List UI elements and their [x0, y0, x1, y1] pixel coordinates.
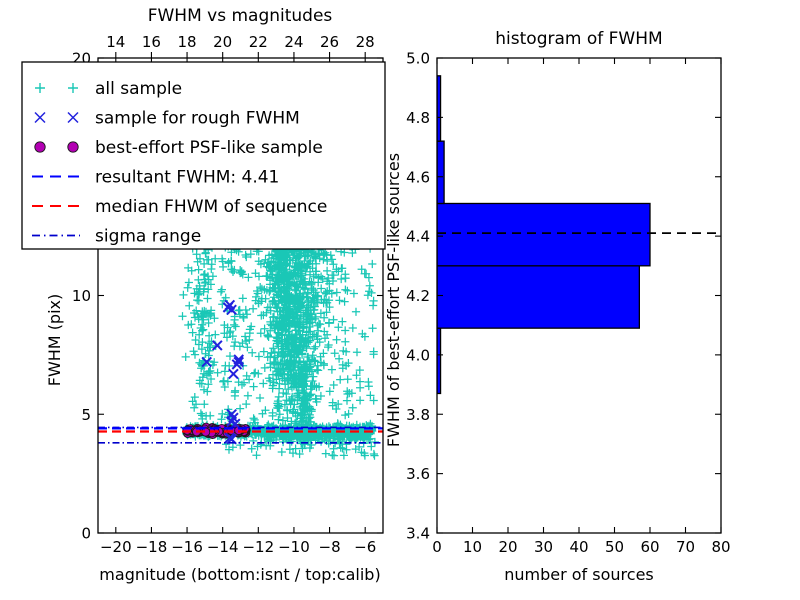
left-ylabel: FWHM (pix) — [45, 294, 64, 387]
left-y-tick-label: 0 — [81, 525, 91, 543]
left-x-top-tick-label: 20 — [213, 33, 232, 51]
histogram-bar — [437, 203, 650, 265]
right-x-tick-label: 70 — [676, 538, 695, 556]
left-x-tick-label: −10 — [278, 538, 310, 556]
right-y-tick-label: 4.4 — [406, 228, 430, 246]
legend-label: median FHWM of sequence — [95, 197, 327, 217]
left-x-tick-label: −16 — [171, 538, 203, 556]
right-y-tick-label: 4.0 — [406, 346, 430, 364]
right-y-tick-label: 5.0 — [406, 50, 430, 68]
legend-label: all sample — [95, 79, 182, 99]
left-x-top-tick-label: 22 — [249, 33, 268, 51]
right-y-tick-label: 3.4 — [406, 525, 430, 543]
legend-circle-icon — [35, 142, 45, 152]
left-x-top-tick-label: 14 — [106, 33, 125, 51]
right-x-tick-label: 30 — [534, 538, 553, 556]
legend-label: resultant FWHM: 4.41 — [95, 168, 279, 188]
right-y-tick-label: 3.8 — [406, 406, 430, 424]
right-panel-title: histogram of FWHM — [495, 29, 662, 49]
left-x-tick-label: −12 — [242, 538, 274, 556]
right-panel: histogram of FWHM 01020304050607080 3.43… — [384, 29, 731, 584]
right-y-tick-label: 4.6 — [406, 168, 430, 186]
left-x-top-tick-label: 24 — [284, 33, 303, 51]
left-x-top-tick-label: 18 — [178, 33, 197, 51]
right-ylabel: FWHM of best-effort PSF-like sources — [384, 153, 403, 447]
left-x-tick-label: −18 — [136, 538, 168, 556]
left-x-tick-label: −20 — [100, 538, 132, 556]
right-xlabel: number of sources — [504, 565, 654, 584]
right-y-tick-label: 4.8 — [406, 109, 430, 127]
right-x-tick-label: 80 — [711, 538, 730, 556]
left-panel-title: FWHM vs magnitudes — [148, 6, 333, 26]
histogram-bar — [437, 141, 444, 203]
left-xlabel: magnitude (bottom:isnt / top:calib) — [99, 565, 380, 584]
right-x-tick-label: 20 — [498, 538, 517, 556]
right-x-tick-label: 60 — [640, 538, 659, 556]
left-x-tick-label: −14 — [207, 538, 239, 556]
left-x-top-tick-label: 28 — [356, 33, 375, 51]
left-x-top-axis: 1416182022242628 — [106, 33, 374, 58]
left-x-top-tick-label: 16 — [142, 33, 161, 51]
right-x-tick-label: 40 — [569, 538, 588, 556]
right-y-tick-label: 3.6 — [406, 465, 430, 483]
left-x-tick-label: −8 — [319, 538, 341, 556]
histogram-bar — [437, 266, 639, 328]
figure-canvas: FWHM vs magnitudes −20−18−16−14−12−10−8−… — [0, 0, 800, 600]
legend-label: sigma range — [95, 227, 201, 247]
right-y-tick-label: 4.2 — [406, 287, 430, 305]
right-x-tick-label: 50 — [605, 538, 624, 556]
legend-label: best-effort PSF-like sample — [95, 138, 323, 158]
left-y-tick-label: 5 — [81, 406, 91, 424]
legend-circle-icon — [68, 142, 78, 152]
legend-box: all samplesample for rough FWHMbest-effo… — [22, 62, 385, 249]
right-x-tick-label: 0 — [432, 538, 442, 556]
left-y-tick-label: 10 — [72, 287, 91, 305]
left-x-tick-label: −6 — [354, 538, 376, 556]
legend-label: sample for rough FWHM — [95, 109, 300, 129]
left-x-top-tick-label: 26 — [320, 33, 339, 51]
right-x-tick-label: 10 — [463, 538, 482, 556]
